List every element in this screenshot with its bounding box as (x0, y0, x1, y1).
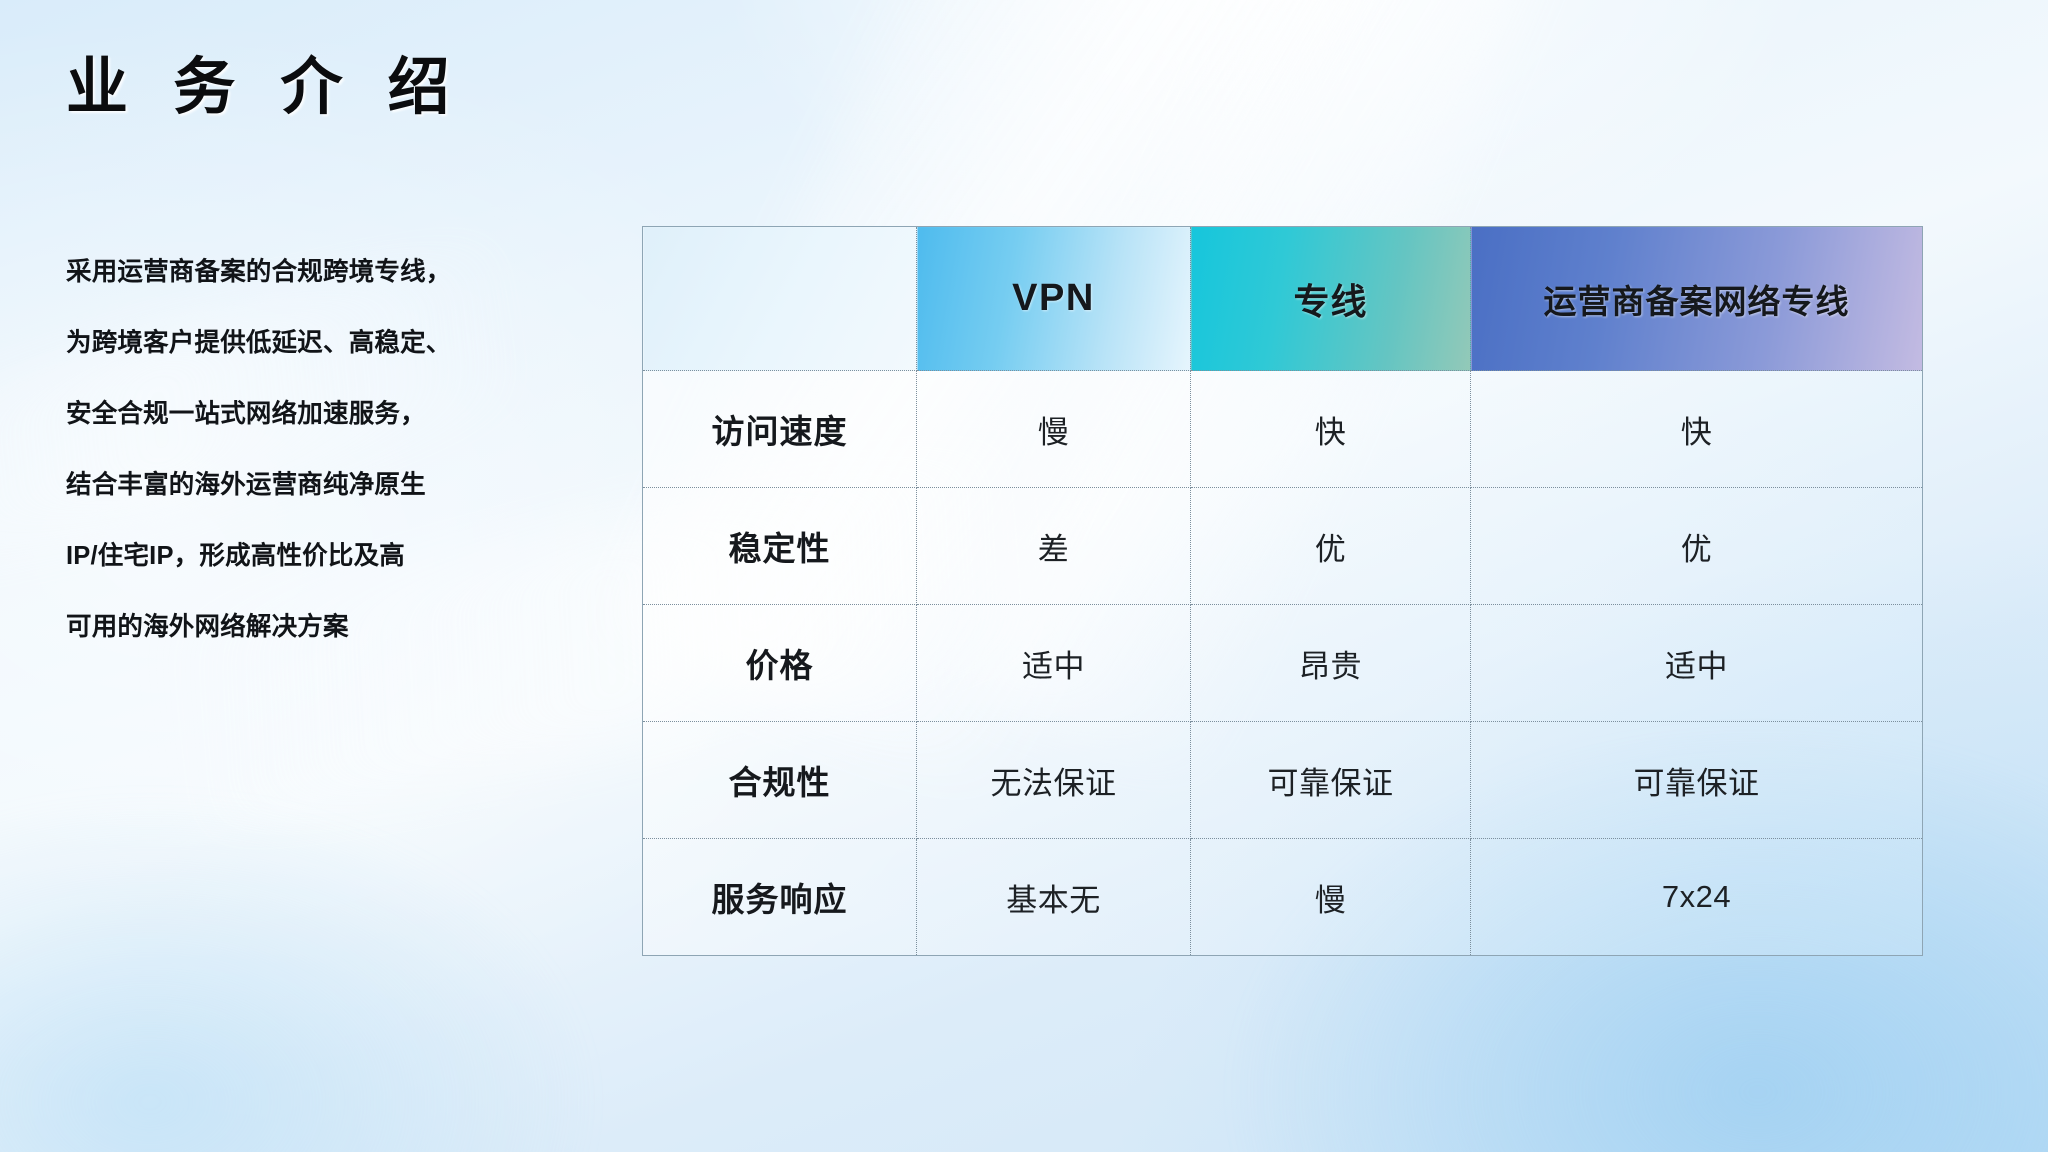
table-row-label: 访问速度 (643, 371, 917, 488)
table-header-dedicated-line: 专线 (1191, 227, 1471, 371)
page-title: 业 务 介 绍 (66, 52, 464, 123)
table-row-label-text: 稳定性 (729, 530, 831, 567)
table-cell-vpn: 基本无 (917, 839, 1191, 956)
table-cell-dedicated-line: 慢 (1191, 839, 1471, 956)
table-body: 访问速度 慢 快 快 稳定性 差 优 优 价格 适中 昂贵 适中 合规性 无法保… (643, 371, 1923, 956)
intro-line: 可用的海外网络解决方案 (66, 592, 486, 663)
table-row: 稳定性 差 优 优 (643, 488, 1923, 605)
intro-paragraph: 采用运营商备案的合规跨境专线， 为跨境客户提供低延迟、高稳定、 安全合规一站式网… (66, 237, 486, 663)
table-cell-operator-line: 快 (1471, 371, 1923, 488)
table-cell-value: 昂贵 (1299, 649, 1362, 684)
table-cell-dedicated-line: 优 (1191, 488, 1471, 605)
table-cell-operator-line: 可靠保证 (1471, 722, 1923, 839)
table-header-dedicated-line-label: 专线 (1293, 281, 1367, 322)
intro-line: 结合丰富的海外运营商纯净原生 (66, 450, 486, 521)
table-cell-value: 可靠保证 (1634, 766, 1760, 801)
intro-line: IP/住宅IP，形成高性价比及高 (66, 521, 486, 592)
intro-line: 采用运营商备案的合规跨境专线， (66, 237, 486, 308)
table-header-vpn: VPN (917, 227, 1191, 371)
table-cell-value: 快 (1315, 415, 1347, 450)
table-cell-operator-line: 适中 (1471, 605, 1923, 722)
comparison-table: VPN 专线 运营商备案网络专线 访问速度 慢 快 快 稳定性 差 优 (642, 226, 1923, 956)
table-cell-value: 慢 (1038, 415, 1070, 450)
table-cell-vpn: 慢 (917, 371, 1191, 488)
table-row: 合规性 无法保证 可靠保证 可靠保证 (643, 722, 1923, 839)
table-cell-value: 7x24 (1662, 879, 1731, 914)
table-row-label-text: 合规性 (729, 764, 831, 801)
intro-line: 为跨境客户提供低延迟、高稳定、 (66, 308, 486, 379)
table-row: 价格 适中 昂贵 适中 (643, 605, 1923, 722)
table-header: VPN 专线 运营商备案网络专线 (643, 227, 1923, 371)
table-header-operator-line-label: 运营商备案网络专线 (1544, 283, 1850, 320)
table-cell-value: 适中 (1665, 649, 1728, 684)
table-cell-vpn: 差 (917, 488, 1191, 605)
table-cell-vpn: 适中 (917, 605, 1191, 722)
table-header-operator-line: 运营商备案网络专线 (1471, 227, 1923, 371)
table-cell-value: 慢 (1315, 883, 1347, 918)
table-cell-dedicated-line: 昂贵 (1191, 605, 1471, 722)
table-cell-value: 优 (1315, 532, 1347, 567)
table-cell-value: 快 (1681, 415, 1713, 450)
table-row-label: 稳定性 (643, 488, 917, 605)
table-cell-value: 优 (1681, 532, 1713, 567)
table-cell-dedicated-line: 可靠保证 (1191, 722, 1471, 839)
table-row-label: 服务响应 (643, 839, 917, 956)
table-cell-operator-line: 优 (1471, 488, 1923, 605)
table-cell-dedicated-line: 快 (1191, 371, 1471, 488)
table-row-label: 合规性 (643, 722, 917, 839)
table-row-label: 价格 (643, 605, 917, 722)
table-cell-value: 无法保证 (991, 766, 1117, 801)
table-row-label-text: 访问速度 (712, 413, 848, 450)
slide-canvas: 业 务 介 绍 采用运营商备案的合规跨境专线， 为跨境客户提供低延迟、高稳定、 … (0, 0, 2048, 1152)
corner-glow-decoration (0, 792, 600, 1152)
intro-line: 安全合规一站式网络加速服务， (66, 379, 486, 450)
table-row: 访问速度 慢 快 快 (643, 371, 1923, 488)
table-row-label-text: 服务响应 (712, 881, 848, 918)
table-row-label-text: 价格 (746, 647, 814, 684)
table-header-blank (643, 227, 917, 371)
table-header-row: VPN 专线 运营商备案网络专线 (643, 227, 1923, 371)
table-cell-operator-line: 7x24 (1471, 839, 1923, 956)
table-cell-value: 基本无 (1006, 883, 1101, 918)
table-cell-vpn: 无法保证 (917, 722, 1191, 839)
table-cell-value: 可靠保证 (1268, 766, 1394, 801)
table-row: 服务响应 基本无 慢 7x24 (643, 839, 1923, 956)
table-header-vpn-label: VPN (1012, 277, 1095, 319)
table-cell-value: 差 (1038, 532, 1070, 567)
table-cell-value: 适中 (1022, 649, 1085, 684)
